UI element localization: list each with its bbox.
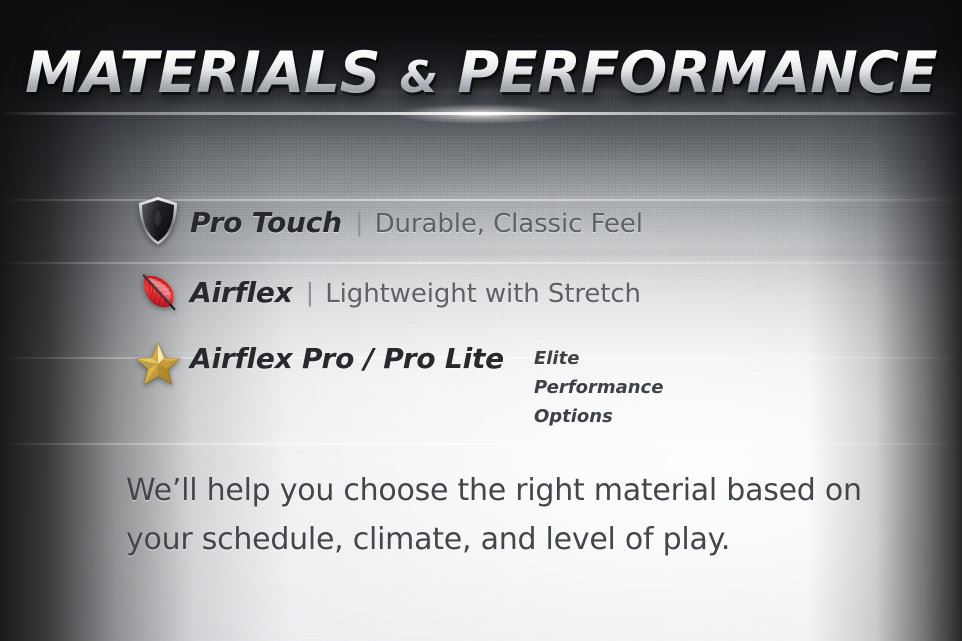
feature-text: Airflex Pro / Pro Lite Elite Performance… <box>190 330 663 435</box>
feature-name: Airflex <box>190 276 293 309</box>
title-divider-rule <box>0 112 962 115</box>
feature-icon-cell <box>126 196 190 246</box>
feature-text: Pro Touch | Durable, Classic Feel <box>190 204 643 239</box>
feather-icon <box>133 266 183 316</box>
feature-icon-cell <box>126 266 190 316</box>
feature-desc-line: Elite <box>534 344 663 373</box>
title-ampersand: & <box>400 52 438 103</box>
feature-desc-line: Performance <box>534 373 663 402</box>
feature-separator: | <box>307 277 314 308</box>
feature-name: Pro Touch <box>190 206 342 239</box>
feature-desc-stack: Elite Performance Options <box>534 344 663 431</box>
feature-icon-cell <box>126 330 190 388</box>
star-icon <box>133 340 183 388</box>
feature-text: Airflex | Lightweight with Stretch <box>190 274 641 309</box>
feature-name: Airflex Pro / Pro Lite <box>190 342 504 375</box>
closing-paragraph: We’ll help you choose the right material… <box>126 466 862 564</box>
feature-row-pro-touch[interactable]: Pro Touch | Durable, Classic Feel <box>0 186 962 256</box>
title-part-two: PERFORMANCE <box>457 40 937 106</box>
feature-desc: Durable, Classic Feel <box>375 209 643 239</box>
feature-row-airflex[interactable]: Airflex | Lightweight with Stretch <box>0 256 962 326</box>
title-container: MATERIALS & PERFORMANCE <box>0 44 962 103</box>
feature-desc: Lightweight with Stretch <box>325 279 641 309</box>
feature-list: Pro Touch | Durable, Classic Feel <box>0 186 962 430</box>
shield-icon <box>137 196 179 246</box>
page-title: MATERIALS & PERFORMANCE <box>25 44 937 103</box>
closing-line-two: your schedule, climate, and level of pla… <box>126 515 862 564</box>
title-part-one: MATERIALS <box>25 40 380 106</box>
closing-line-one: We’ll help you choose the right material… <box>126 466 862 515</box>
row-divider-bottom <box>0 443 962 445</box>
feature-separator: | <box>356 207 363 238</box>
feature-row-airflex-pro[interactable]: Airflex Pro / Pro Lite Elite Performance… <box>0 326 962 430</box>
feature-desc-line: Options <box>534 402 663 431</box>
slide-canvas: MATERIALS & PERFORMANCE <box>0 0 962 641</box>
